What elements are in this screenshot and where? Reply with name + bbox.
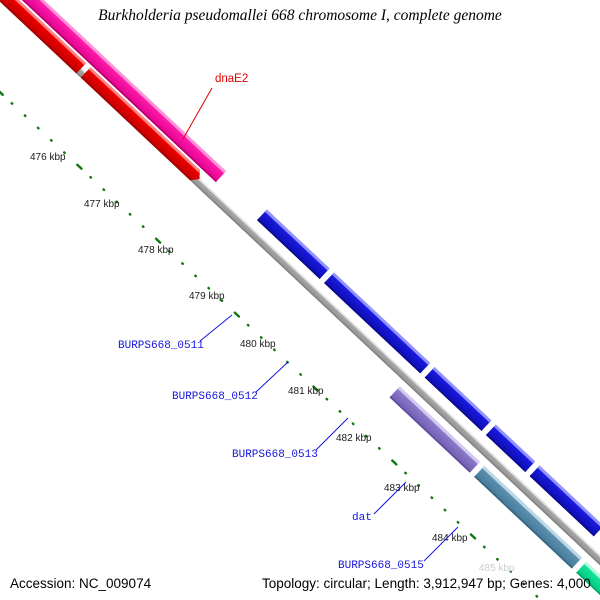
genome-map-viewer: Burkholderia pseudomallei 668 chromosome… [0,0,600,600]
gene-label-BURPS668_0511[interactable]: BURPS668_0511 [118,340,204,352]
ruler-label: 480 kbp [240,339,276,350]
gene-label-dat[interactable]: dat [352,512,372,524]
leader-line-BURPS668_0511 [200,315,232,341]
ruler-label: 477 kbp [84,199,120,210]
leader-line-dnaE2 [183,88,212,139]
feature-dat[interactable] [474,466,582,569]
ruler-label: 479 kbp [189,291,225,302]
genome-map-canvas[interactable]: Burkholderia pseudomallei 668 chromosome… [0,0,600,600]
leader-line-BURPS668_0512 [256,362,288,392]
feature-track-group[interactable] [0,0,600,600]
ruler-label: 482 kbp [336,433,372,444]
ruler-label: 478 kbp [138,245,174,256]
ruler-tick-marks [0,40,591,600]
feature-dnaE2-red-segment2[interactable] [81,67,204,184]
ruler-label: 476 kbp [30,152,66,163]
ruler-label: 483 kbp [384,483,420,494]
gene-label-BURPS668_0513[interactable]: BURPS668_0513 [232,449,318,461]
ruler-label: 485 kbp [479,563,515,574]
page-title: Burkholderia pseudomallei 668 chromosome… [98,7,502,24]
accession-label: Accession: NC_009074 [10,576,152,591]
gene-label-BURPS668_0515[interactable]: BURPS668_0515 [338,560,424,572]
status-bar: Accession: NC_009074 Topology: circular;… [10,576,591,591]
genome-summary-label: Topology: circular; Length: 3,912,947 bp… [262,576,591,591]
feature-BURPS668_0512[interactable] [324,272,430,373]
gene-label-dnaE2[interactable]: dnaE2 [215,73,248,85]
ruler-label: 481 kbp [288,386,324,397]
gene-label-BURPS668_0512[interactable]: BURPS668_0512 [172,391,258,403]
